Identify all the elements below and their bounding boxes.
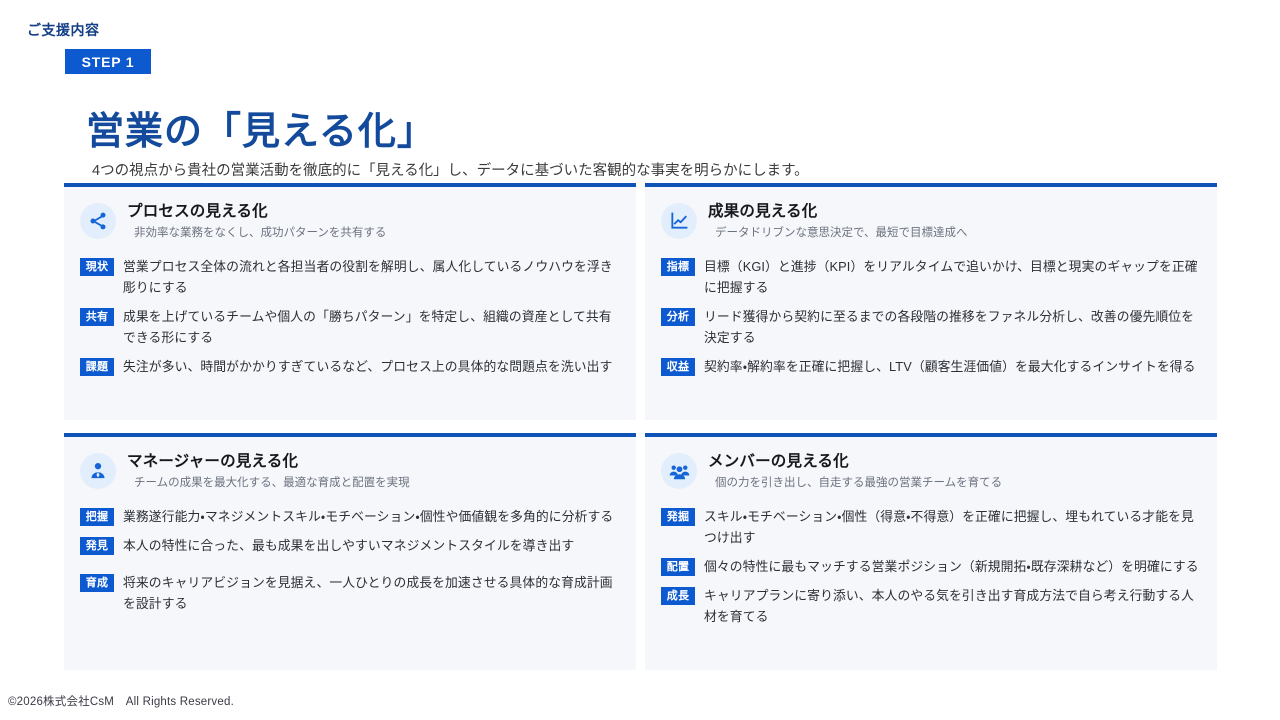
- card-row: 指標 目標（KGI）と進捗（KPI）をリアルタイムで追いかけ、目標と現実のギャッ…: [661, 256, 1201, 298]
- row-text: 営業プロセス全体の流れと各担当者の役割を解明し、属人化しているノウハウを浮き彫り…: [123, 256, 620, 298]
- card-row: 発見 本人の特性に合った、最も成果を出しやすいマネジメントスタイルを導き出す: [80, 535, 620, 556]
- share-nodes-icon: [80, 203, 116, 239]
- row-text: 契約率・解約率を正確に把握し、LTV（顧客生涯価値）を最大化するインサイトを得る: [704, 356, 1196, 377]
- card-row: 現状 営業プロセス全体の流れと各担当者の役割を解明し、属人化しているノウハウを浮…: [80, 256, 620, 298]
- row-text: 業務遂行能力・マネジメントスキル・モチベーション・個性や価値観を多角的に分析する: [123, 506, 613, 527]
- visualization-card-grid: プロセスの見える化 非効率な業務をなくし、成功パターンを共有する 現状 営業プロ…: [64, 183, 1217, 670]
- card-member: メンバーの見える化 個の力を引き出し、自走する最強の営業チームを育てる 発掘 ス…: [645, 433, 1217, 670]
- row-tag: 成長: [661, 587, 695, 605]
- eyebrow-label: ご支援内容: [27, 20, 100, 40]
- row-tag: 収益: [661, 358, 695, 376]
- row-tag: 課題: [80, 358, 114, 376]
- card-row: 分析 リード獲得から契約に至るまでの各段階の推移をファネル分析し、改善の優先順位…: [661, 306, 1201, 348]
- card-row: 発掘 スキル・モチベーション・個性（得意・不得意）を正確に把握し、埋もれている才…: [661, 506, 1201, 548]
- row-text: 目標（KGI）と進捗（KPI）をリアルタイムで追いかけ、目標と現実のギャップを正…: [704, 256, 1201, 298]
- row-tag: 発見: [80, 537, 114, 555]
- card-row: 共有 成果を上げているチームや個人の「勝ちパターン」を特定し、組織の資産として共…: [80, 306, 620, 348]
- row-tag: 共有: [80, 308, 114, 326]
- card-row: 配置 個々の特性に最もマッチする営業ポジション（新規開拓・既存深耕など）を明確に…: [661, 556, 1201, 577]
- card-subtitle: チームの成果を最大化する、最適な育成と配置を実現: [127, 474, 410, 493]
- card-header: 成果の見える化 データドリブンな意思決定で、最短で目標達成へ: [661, 200, 1201, 252]
- row-text: 本人の特性に合った、最も成果を出しやすいマネジメントスタイルを導き出す: [123, 535, 574, 556]
- row-tag: 発掘: [661, 508, 695, 526]
- card-results: 成果の見える化 データドリブンな意思決定で、最短で目標達成へ 指標 目標（KGI…: [645, 183, 1217, 420]
- footer-copyright: ©2026株式会社CsM All Rights Reserved.: [8, 693, 234, 709]
- row-tag: 現状: [80, 258, 114, 276]
- row-text: スキル・モチベーション・個性（得意・不得意）を正確に把握し、埋もれている才能を見…: [704, 506, 1201, 548]
- card-title: メンバーの見える化: [708, 451, 1002, 472]
- card-process: プロセスの見える化 非効率な業務をなくし、成功パターンを共有する 現状 営業プロ…: [64, 183, 636, 420]
- card-rows: 発掘 スキル・モチベーション・個性（得意・不得意）を正確に把握し、埋もれている才…: [661, 506, 1201, 627]
- row-tag: 分析: [661, 308, 695, 326]
- card-title: 成果の見える化: [708, 201, 968, 222]
- row-text: リード獲得から契約に至るまでの各段階の推移をファネル分析し、改善の優先順位を決定…: [704, 306, 1201, 348]
- card-rows: 現状 営業プロセス全体の流れと各担当者の役割を解明し、属人化しているノウハウを浮…: [80, 256, 620, 377]
- row-tag: 育成: [80, 574, 114, 592]
- card-row: 課題 失注が多い、時間がかかりすぎているなど、プロセス上の具体的な問題点を洗い出…: [80, 356, 620, 377]
- card-subtitle: 非効率な業務をなくし、成功パターンを共有する: [127, 224, 386, 243]
- row-text: 失注が多い、時間がかかりすぎているなど、プロセス上の具体的な問題点を洗い出す: [123, 356, 612, 377]
- card-title: マネージャーの見える化: [127, 451, 410, 472]
- row-text: 将来のキャリアビジョンを見据え、一人ひとりの成長を加速させる具体的な育成計画を設…: [123, 572, 620, 614]
- business-person-icon: [80, 453, 116, 489]
- card-manager: マネージャーの見える化 チームの成果を最大化する、最適な育成と配置を実現 把握 …: [64, 433, 636, 670]
- page-title: 営業の「見える化」: [86, 109, 436, 155]
- card-header: メンバーの見える化 個の力を引き出し、自走する最強の営業チームを育てる: [661, 450, 1201, 502]
- page-lead: 4つの視点から貴社の営業活動を徹底的に「見える化」し、データに基づいた客観的な事…: [92, 160, 809, 182]
- row-tag: 把握: [80, 508, 114, 526]
- card-subtitle: 個の力を引き出し、自走する最強の営業チームを育てる: [708, 474, 1002, 493]
- card-header: プロセスの見える化 非効率な業務をなくし、成功パターンを共有する: [80, 200, 620, 252]
- card-row: 把握 業務遂行能力・マネジメントスキル・モチベーション・個性や価値観を多角的に分…: [80, 506, 620, 527]
- row-text: キャリアプランに寄り添い、本人のやる気を引き出す育成方法で自ら考え行動する人材を…: [704, 585, 1201, 627]
- card-rows: 指標 目標（KGI）と進捗（KPI）をリアルタイムで追いかけ、目標と現実のギャッ…: [661, 256, 1201, 377]
- card-row: 育成 将来のキャリアビジョンを見据え、一人ひとりの成長を加速させる具体的な育成計…: [80, 572, 620, 614]
- line-chart-icon: [661, 203, 697, 239]
- card-subtitle: データドリブンな意思決定で、最短で目標達成へ: [708, 224, 968, 243]
- card-row: 成長 キャリアプランに寄り添い、本人のやる気を引き出す育成方法で自ら考え行動する…: [661, 585, 1201, 627]
- row-text: 成果を上げているチームや個人の「勝ちパターン」を特定し、組織の資産として共有でき…: [123, 306, 620, 348]
- card-row: 収益 契約率・解約率を正確に把握し、LTV（顧客生涯価値）を最大化するインサイト…: [661, 356, 1201, 377]
- row-tag: 配置: [661, 558, 695, 576]
- row-text: 個々の特性に最もマッチする営業ポジション（新規開拓・既存深耕など）を明確にする: [704, 556, 1199, 577]
- row-tag: 指標: [661, 258, 695, 276]
- step-badge: STEP 1: [65, 49, 151, 74]
- card-title: プロセスの見える化: [127, 201, 386, 222]
- card-rows: 把握 業務遂行能力・マネジメントスキル・モチベーション・個性や価値観を多角的に分…: [80, 506, 620, 614]
- people-group-icon: [661, 453, 697, 489]
- card-header: マネージャーの見える化 チームの成果を最大化する、最適な育成と配置を実現: [80, 450, 620, 502]
